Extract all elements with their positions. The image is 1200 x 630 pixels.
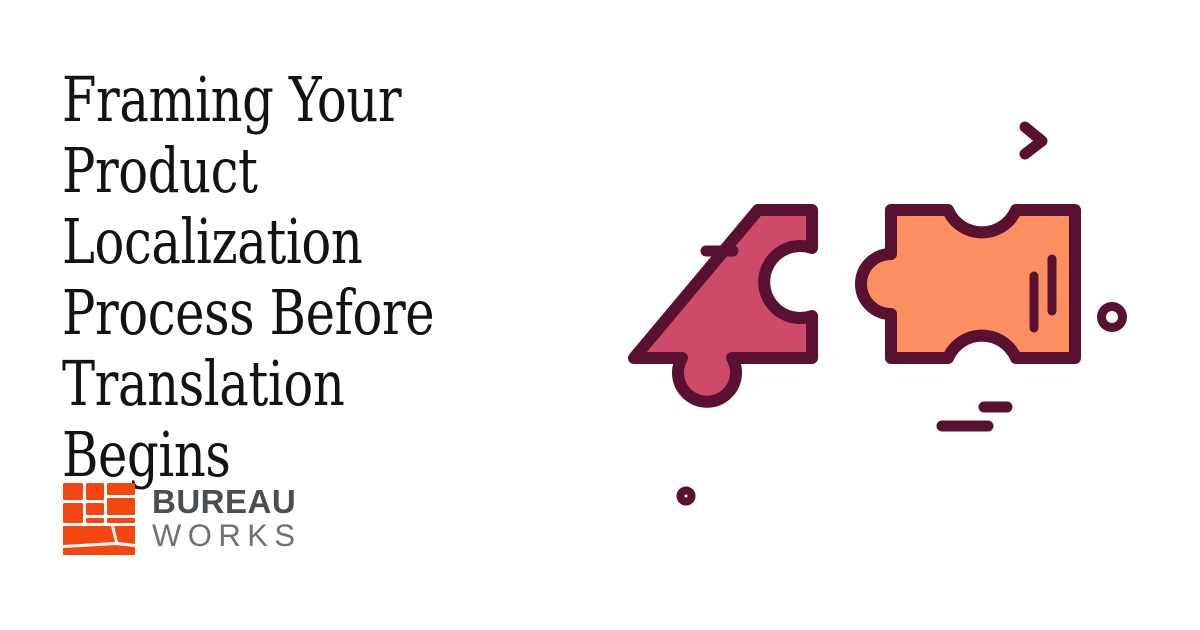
bureau-works-logo[interactable]: BUREAU WORKS [62, 482, 302, 556]
page-title: Framing Your Product Localization Proces… [62, 64, 526, 490]
ring-dot-large [1102, 307, 1123, 328]
logo-wordmark: BUREAU WORKS [152, 485, 302, 553]
ring-dot-small [681, 491, 692, 502]
puzzle-illustration [600, 96, 1200, 536]
chevron-right-mark [1025, 127, 1042, 154]
logo-word-bureau: BUREAU [152, 485, 302, 519]
logo-word-works: WORKS [152, 519, 302, 554]
social-card: Framing Your Product Localization Proces… [0, 0, 1200, 630]
orange-puzzle-piece [861, 210, 1075, 358]
brick-wall-mosaic-icon [62, 482, 136, 556]
pink-puzzle-piece [634, 210, 812, 402]
